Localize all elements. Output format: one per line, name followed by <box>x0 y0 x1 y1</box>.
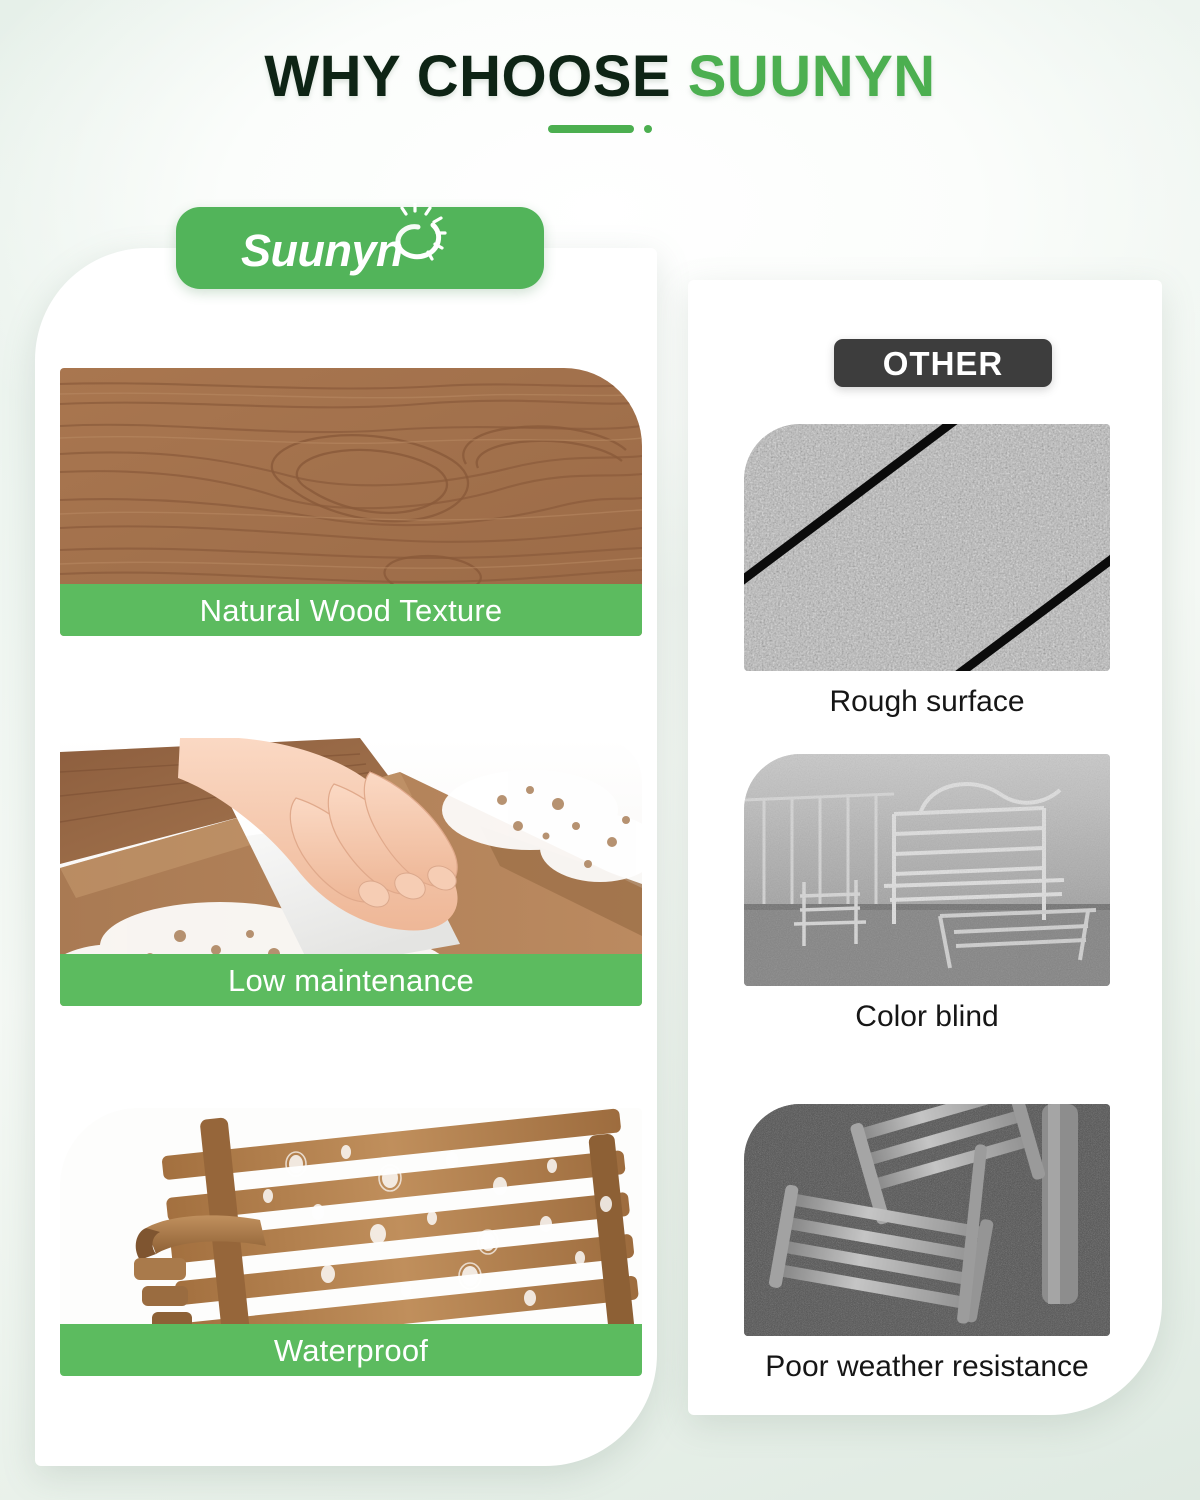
other-item-color-blind: Color blind <box>744 754 1110 1033</box>
feature-tile-natural-wood-texture: Natural Wood Texture <box>60 368 642 636</box>
other-item-rough-surface: Rough surface <box>744 424 1110 718</box>
feature-tile-waterproof: Waterproof <box>60 1108 642 1376</box>
title-accent-rule <box>0 125 1200 133</box>
feature-caption-label: Waterproof <box>274 1335 428 1366</box>
feature-caption-bar: Natural Wood Texture <box>60 584 642 636</box>
accent-bar <box>548 125 634 133</box>
sun-swirl-icon <box>375 203 449 282</box>
feature-caption-label: Natural Wood Texture <box>200 595 503 626</box>
page-title: WHY CHOOSE SUUNYN <box>0 46 1200 109</box>
other-caption-label: Poor weather resistance <box>744 1350 1110 1383</box>
feature-caption-bar: Low maintenance <box>60 954 642 1006</box>
other-caption-label: Rough surface <box>744 685 1110 718</box>
infographic-page: WHY CHOOSE SUUNYN Suunyn <box>0 0 1200 1500</box>
title-primary: WHY CHOOSE <box>264 44 671 109</box>
poor-weather-image <box>744 1104 1110 1336</box>
suunyn-brand-badge: Suunyn <box>176 207 544 289</box>
feature-caption-label: Low maintenance <box>228 965 474 996</box>
other-badge: OTHER <box>834 339 1052 387</box>
accent-dot <box>644 125 652 133</box>
other-item-poor-weather-resistance: Poor weather resistance <box>744 1104 1110 1383</box>
color-blind-image <box>744 754 1110 986</box>
feature-caption-bar: Waterproof <box>60 1324 642 1376</box>
other-caption-label: Color blind <box>744 1000 1110 1033</box>
title-accent: SUUNYN <box>688 44 936 109</box>
other-badge-label: OTHER <box>883 347 1004 380</box>
feature-tile-low-maintenance: Low maintenance <box>60 738 642 1006</box>
rough-surface-image <box>744 424 1110 671</box>
page-header: WHY CHOOSE SUUNYN <box>0 46 1200 133</box>
